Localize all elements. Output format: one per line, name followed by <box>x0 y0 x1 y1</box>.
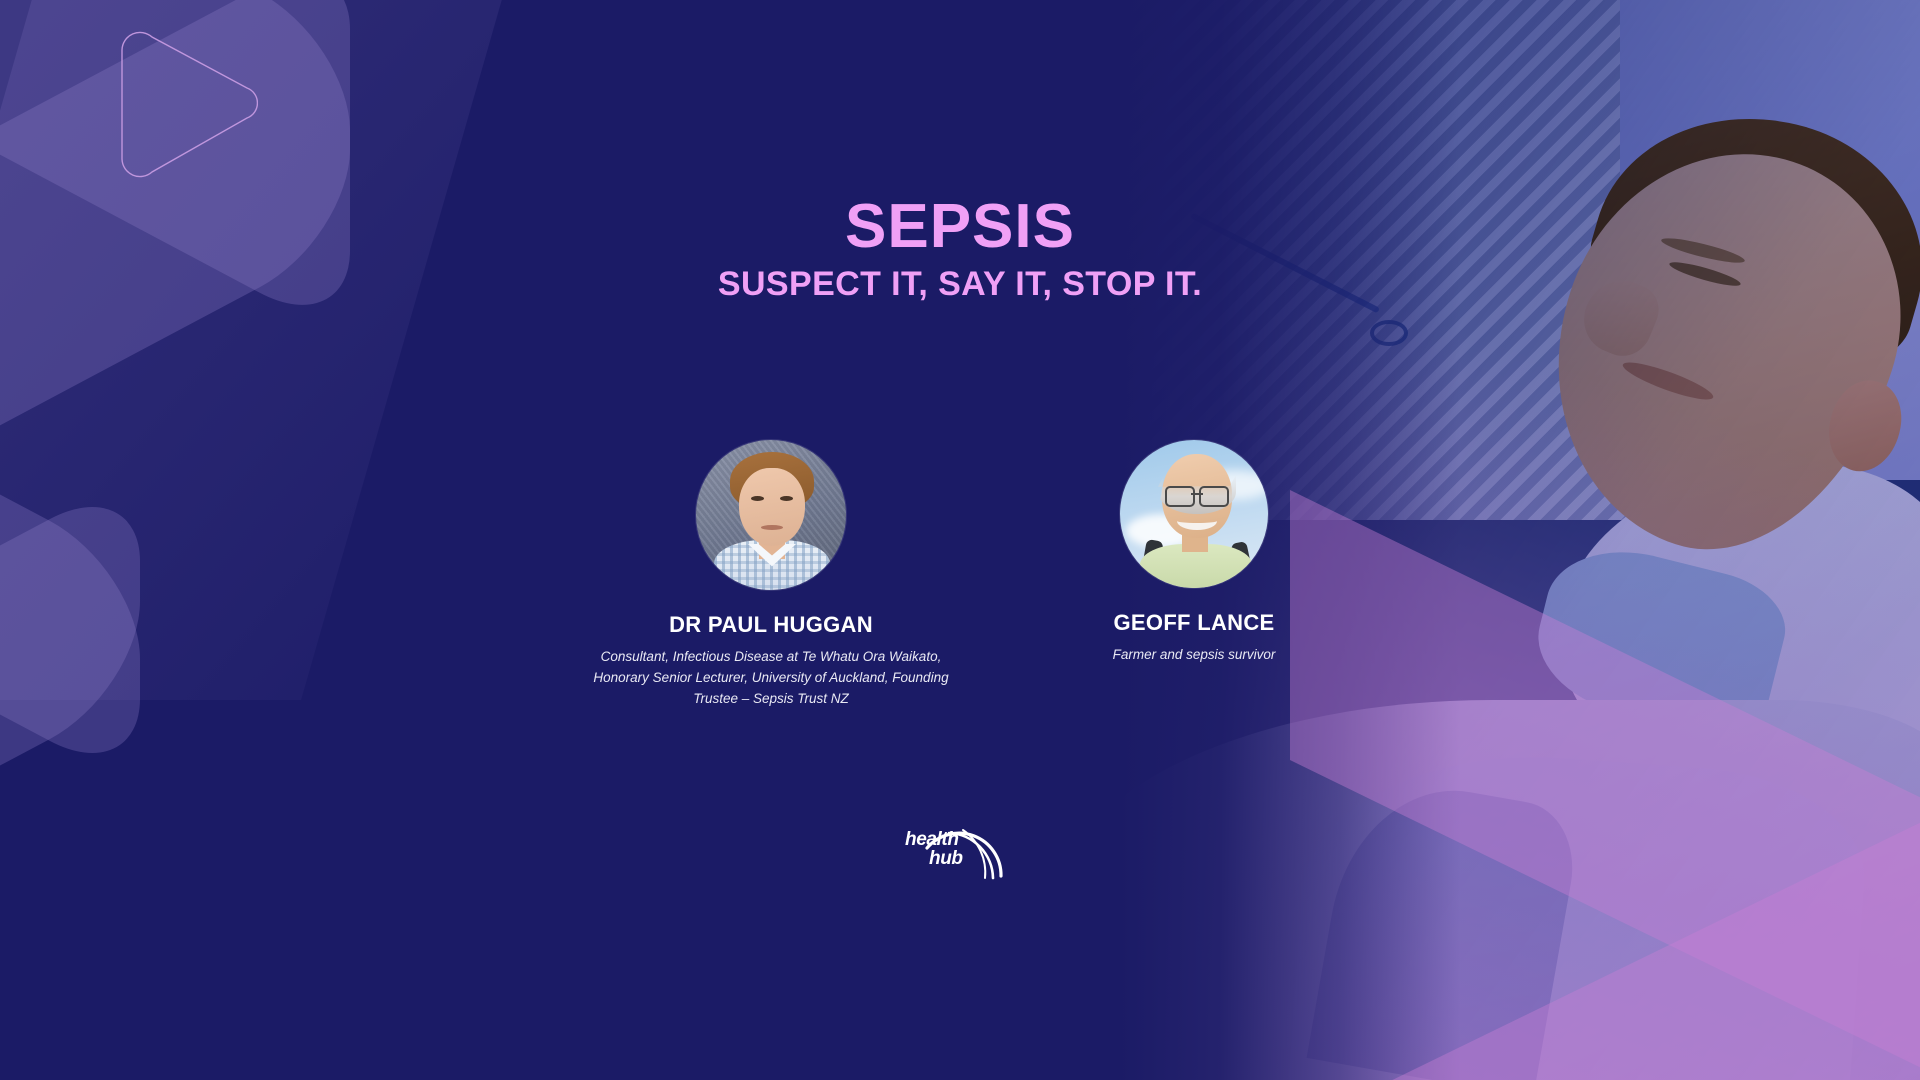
avatar-geoff-lance <box>1120 440 1268 588</box>
avatar-eye-left <box>751 496 764 501</box>
speaker-card-geoff-lance: GEOFF LANCE Farmer and sepsis survivor <box>1044 440 1344 666</box>
avatar-face <box>739 468 805 546</box>
avatar-eye-right <box>780 496 793 501</box>
speaker-name: GEOFF LANCE <box>1044 610 1344 636</box>
slide-canvas: SEPSIS SUSPECT IT, SAY IT, STOP IT. DR P… <box>0 0 1920 1080</box>
avatar-mouth <box>1177 512 1217 530</box>
speaker-list: DR PAUL HUGGAN Consultant, Infectious Di… <box>0 440 1920 710</box>
logo-line-hub: hub <box>905 849 987 868</box>
avatar-mouth <box>761 525 783 530</box>
speaker-bio: Consultant, Infectious Disease at Te Wha… <box>576 647 966 710</box>
avatar-dr-paul-huggan <box>696 440 846 590</box>
speaker-card-paul-huggan: DR PAUL HUGGAN Consultant, Infectious Di… <box>576 440 966 710</box>
play-triangle-icon <box>108 26 258 184</box>
logo-wordmark: health hub <box>905 830 987 869</box>
speaker-bio: Farmer and sepsis survivor <box>1044 645 1344 666</box>
logo-line-health: health <box>905 829 959 850</box>
avatar-glasses-bridge <box>1191 493 1203 495</box>
speaker-name: DR PAUL HUGGAN <box>576 612 966 638</box>
health-hub-logo: health hub <box>905 818 1015 880</box>
